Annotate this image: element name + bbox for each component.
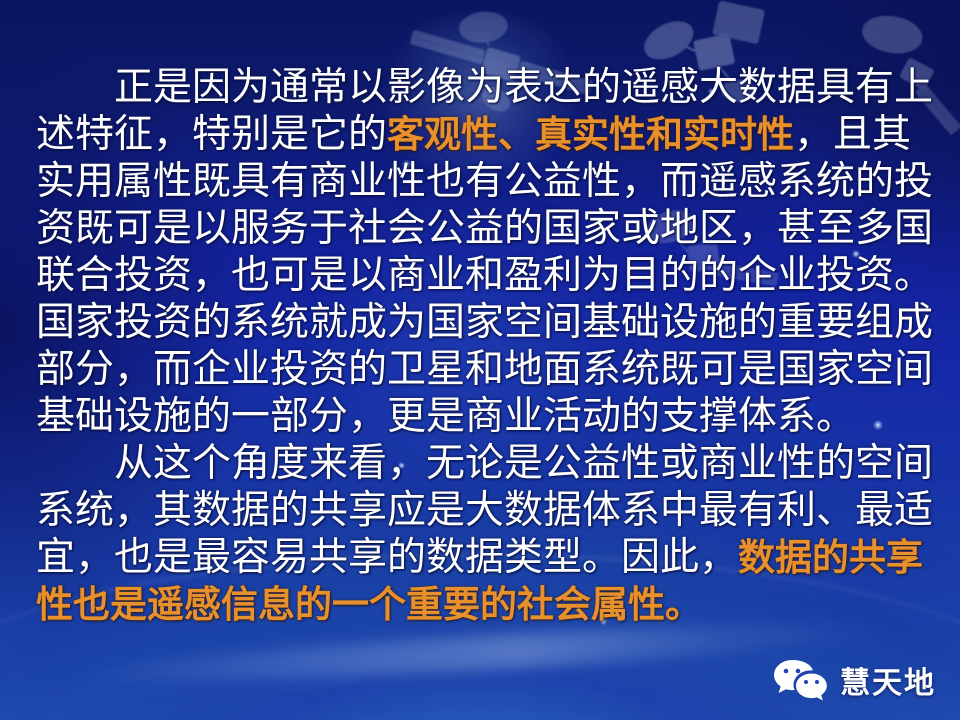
text-run: 资既可是以服务于社会公益的国家或地区，甚至多国 [36,206,933,251]
text-line: 国家投资的系统就成为国家空间基础设施的重要组成 [36,299,924,346]
text-line: 系统，其数据的共享应是大数据体系中最有利、最适 [36,487,924,534]
wechat-icon [772,658,828,702]
text-line: 宜，也是最容易共享的数据类型。因此，数据的共享 [36,534,924,581]
highlighted-text-run: 数据的共享 [738,536,923,579]
text-run: 宜，也是最容易共享的数据类型。因此， [36,535,738,580]
text-run: 系统，其数据的共享应是大数据体系中最有利、最适 [36,488,933,533]
text-line: 实用属性既具有商业性也有公益性，而遥感系统的投 [36,158,924,205]
watermark-label: 慧天地 [840,658,936,702]
text-line: 述特征，特别是它的客观性、真实性和实时性，且其 [36,111,924,158]
text-run: 述特征，特别是它的 [36,112,387,157]
text-run: ，且其 [794,112,911,157]
slide-canvas: 正是因为通常以影像为表达的遥感大数据具有上述特征，特别是它的客观性、真实性和实时… [0,0,960,720]
text-line: 联合投资，也可是以商业和盈利为目的的企业投资。 [36,252,924,299]
text-line: 正是因为通常以影像为表达的遥感大数据具有上 [36,64,924,111]
text-run: 实用属性既具有商业性也有公益性，而遥感系统的投 [36,159,933,204]
text-run: 基础设施的一部分，更是商业活动的支撑体系。 [36,394,855,439]
text-line: 从这个角度来看，无论是公益性或商业性的空间 [36,440,924,487]
text-run: 正是因为通常以影像为表达的遥感大数据具有上 [36,65,933,110]
text-line: 部分，而企业投资的卫星和地面系统既可是国家空间 [36,346,924,393]
text-run: 从这个角度来看，无论是公益性或商业性的空间 [36,441,933,486]
text-line: 性也是遥感信息的一个重要的社会属性。 [36,581,924,628]
text-line: 基础设施的一部分，更是商业活动的支撑体系。 [36,393,924,440]
highlighted-text-run: 客观性、真实性和实时性 [387,113,794,156]
text-run: 部分，而企业投资的卫星和地面系统既可是国家空间 [36,347,933,392]
slide-body-text: 正是因为通常以影像为表达的遥感大数据具有上述特征，特别是它的客观性、真实性和实时… [36,64,924,628]
highlighted-text-run: 性也是遥感信息的一个重要的社会属性。 [36,583,702,626]
text-run: 国家投资的系统就成为国家空间基础设施的重要组成 [36,300,933,345]
text-run: 联合投资，也可是以商业和盈利为目的的企业投资。 [36,253,933,298]
watermark-logo: 慧天地 [772,658,936,702]
text-line: 资既可是以服务于社会公益的国家或地区，甚至多国 [36,205,924,252]
